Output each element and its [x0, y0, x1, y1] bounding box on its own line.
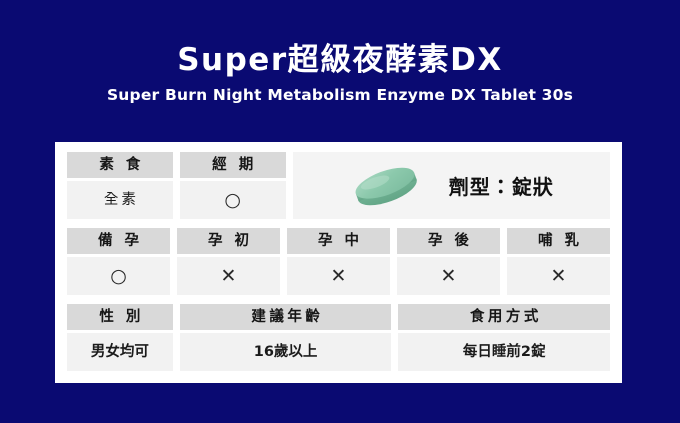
spec-label-mid-pregnancy: 孕 中	[287, 228, 390, 254]
spec-label-menstruation: 經 期	[180, 152, 286, 178]
spec-cell-breastfeeding: 哺 乳 ✕	[507, 228, 610, 295]
product-spec-banner: Super超級夜酵素DX Super Burn Night Metabolism…	[0, 0, 680, 423]
spec-value-mid-pregnancy: ✕	[287, 257, 390, 295]
dosage-form-label: 劑型：錠狀	[449, 171, 554, 200]
spec-label-usage: 食用方式	[398, 304, 610, 330]
spec-value-breastfeeding: ✕	[507, 257, 610, 295]
spec-cell-usage: 食用方式 每日睡前2錠	[398, 304, 610, 371]
spec-label-breastfeeding: 哺 乳	[507, 228, 610, 254]
banner-header: Super超級夜酵素DX Super Burn Night Metabolism…	[0, 40, 680, 106]
spec-value-gender: 男女均可	[67, 333, 173, 371]
spec-cell-preconception: 備 孕 ○	[67, 228, 170, 295]
spec-value-early-pregnancy: ✕	[177, 257, 280, 295]
spec-value-late-pregnancy: ✕	[397, 257, 500, 295]
spec-cell-late-pregnancy: 孕 後 ✕	[397, 228, 500, 295]
spec-cell-early-pregnancy: 孕 初 ✕	[177, 228, 280, 295]
spec-label-vegetarian: 素 食	[67, 152, 173, 178]
spec-value-recommended-age: 16歲以上	[180, 333, 392, 371]
spec-value-usage: 每日睡前2錠	[398, 333, 610, 371]
spec-table-card: 素 食 全素 經 期 ○	[55, 142, 622, 383]
spec-cell-vegetarian: 素 食 全素	[67, 152, 173, 219]
spec-label-late-pregnancy: 孕 後	[397, 228, 500, 254]
spec-cell-mid-pregnancy: 孕 中 ✕	[287, 228, 390, 295]
product-subtitle: Super Burn Night Metabolism Enzyme DX Ta…	[0, 84, 680, 106]
dosage-form-panel: 劑型：錠狀	[293, 152, 610, 219]
spec-row-2: 備 孕 ○ 孕 初 ✕ 孕 中 ✕ 孕 後 ✕ 哺 乳 ✕	[67, 228, 610, 295]
spec-cell-recommended-age: 建議年齡 16歲以上	[180, 304, 392, 371]
product-title: Super超級夜酵素DX	[0, 40, 680, 80]
spec-label-recommended-age: 建議年齡	[180, 304, 392, 330]
spec-cell-menstruation: 經 期 ○	[180, 152, 286, 219]
spec-row-3: 性 別 男女均可 建議年齡 16歲以上 食用方式 每日睡前2錠	[67, 304, 610, 371]
spec-label-gender: 性 別	[67, 304, 173, 330]
spec-value-preconception: ○	[67, 257, 170, 295]
spec-value-vegetarian: 全素	[67, 181, 173, 219]
spec-label-preconception: 備 孕	[67, 228, 170, 254]
tablet-pill-icon	[349, 160, 423, 212]
spec-label-early-pregnancy: 孕 初	[177, 228, 280, 254]
spec-row-1: 素 食 全素 經 期 ○	[67, 152, 610, 219]
spec-cell-gender: 性 別 男女均可	[67, 304, 173, 371]
spec-value-menstruation: ○	[180, 181, 286, 219]
